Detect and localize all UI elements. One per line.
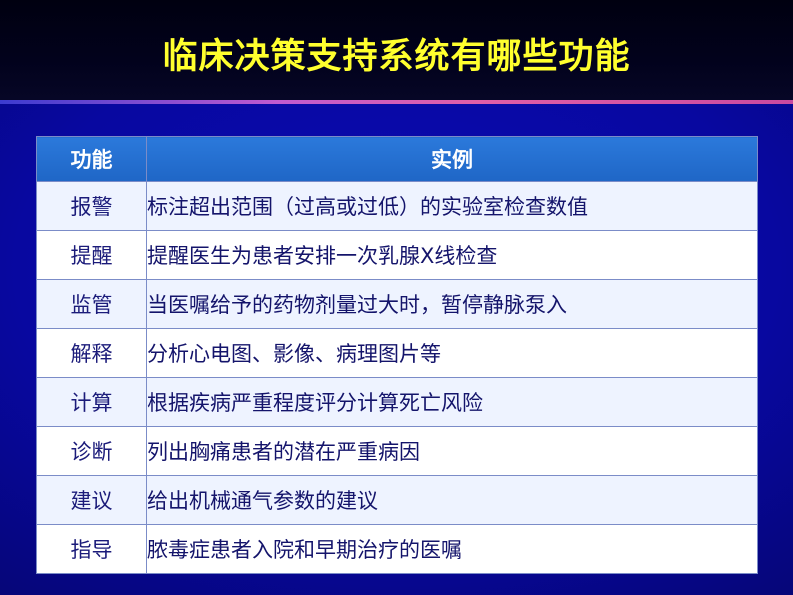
cell-example: 当医嘱给予的药物剂量过大时，暂停静脉泵入: [147, 280, 758, 329]
cell-example: 列出胸痛患者的潜在严重病因: [147, 427, 758, 476]
slide: 临床决策支持系统有哪些功能 功能 实例 报警 标注超出范围（过高或过低）的实验室…: [0, 0, 793, 595]
cell-example: 提醒医生为患者安排一次乳腺X线检查: [147, 231, 758, 280]
page-title: 临床决策支持系统有哪些功能: [0, 28, 793, 79]
cell-function: 计算: [37, 378, 147, 427]
table-row: 指导 脓毒症患者入院和早期治疗的医嘱: [37, 525, 758, 574]
cell-example: 给出机械通气参数的建议: [147, 476, 758, 525]
column-header-function: 功能: [37, 137, 147, 182]
table-row: 计算 根据疾病严重程度评分计算死亡风险: [37, 378, 758, 427]
cell-example: 标注超出范围（过高或过低）的实验室检查数值: [147, 182, 758, 231]
column-header-example: 实例: [147, 137, 758, 182]
cell-example: 分析心电图、影像、病理图片等: [147, 329, 758, 378]
table-row: 提醒 提醒医生为患者安排一次乳腺X线检查: [37, 231, 758, 280]
table-row: 监管 当医嘱给予的药物剂量过大时，暂停静脉泵入: [37, 280, 758, 329]
table-row: 报警 标注超出范围（过高或过低）的实验室检查数值: [37, 182, 758, 231]
table-row: 建议 给出机械通气参数的建议: [37, 476, 758, 525]
cell-function: 指导: [37, 525, 147, 574]
cell-example: 脓毒症患者入院和早期治疗的医嘱: [147, 525, 758, 574]
table-header-row: 功能 实例: [37, 137, 758, 182]
header-divider-rule: [0, 100, 793, 104]
cell-function: 提醒: [37, 231, 147, 280]
cell-example: 根据疾病严重程度评分计算死亡风险: [147, 378, 758, 427]
cell-function: 建议: [37, 476, 147, 525]
cell-function: 报警: [37, 182, 147, 231]
cell-function: 解释: [37, 329, 147, 378]
table-row: 解释 分析心电图、影像、病理图片等: [37, 329, 758, 378]
cell-function: 诊断: [37, 427, 147, 476]
cdss-function-table: 功能 实例 报警 标注超出范围（过高或过低）的实验室检查数值 提醒 提醒医生为患…: [36, 136, 757, 574]
cell-function: 监管: [37, 280, 147, 329]
table-row: 诊断 列出胸痛患者的潜在严重病因: [37, 427, 758, 476]
